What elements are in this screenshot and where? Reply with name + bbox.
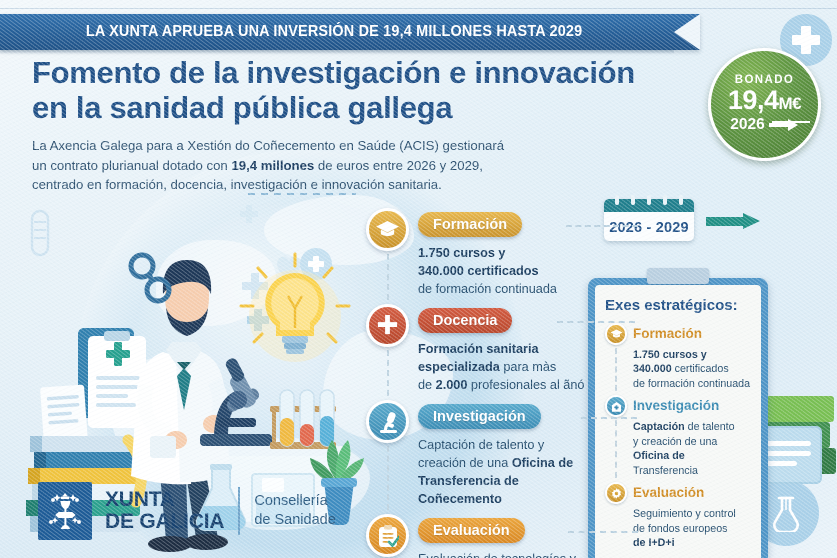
axis-label-formacion: Formación [418,212,522,237]
clip-connector [615,348,617,391]
subtitle-line1: La Axencia Galega para a Xestión do Coñe… [32,138,504,153]
axis-label-investigacion: Investigación [418,404,541,429]
clip-label-evaluacion: Evaluación [633,482,751,504]
clipboard-sheet: Exes estratégicos: Formación 1.750 curso… [595,285,761,558]
clip-item-evaluacion[interactable]: Evaluación Seguimiento y control de fond… [605,482,751,550]
axis-dash-tail [557,321,635,323]
department-line1: Consellería [254,493,327,509]
page-title-line2: en la sanidad pública gallega [32,90,452,125]
axis-item-investigacion[interactable]: Investigación Captación de talento y cre… [366,398,606,508]
axis-dash-tail [568,531,638,533]
evaluacion-l1: Evaluación de tecnologías y [418,552,576,558]
clip-desc-investigacion: Captación de talento y creación de una O… [633,420,751,478]
subtitle-line2-post: de euros entre 2026 y 2029, [314,158,483,173]
docencia-l2b: para màs [500,360,556,374]
docencia-l1: Formación sanitaria [418,342,539,356]
docencia-count: 2.000 [436,378,468,392]
department-line2: de Sanidade [254,512,335,528]
axis-dash-tail [566,225,638,227]
headline-banner: LA XUNTA APRUEBA UNA INVERSIÓN DE 19,4 M… [0,14,700,50]
docencia-l2: especializada [418,360,500,374]
graduation-cap-icon [366,208,409,251]
clip-eval-l2: de fondos europeos [633,523,727,535]
clip-formacion-l2b: certificados [672,363,729,375]
formacion-note: de formación continuada [418,282,557,296]
investigacion-l1: Captación de talento y [418,438,544,452]
strategic-axis-list: Formación 1.750 cursos y 340.000 certifi… [366,206,606,558]
clip-label-investigacion: Investigación [633,395,751,417]
investigacion-l3: Transferencia de Coñecemento [418,474,519,506]
badge-year-row: 2026 [730,116,798,134]
axis-desc-docencia: Formación sanitaria especializada para m… [418,340,606,394]
axis-connector [387,254,389,300]
top-rule [0,8,837,9]
medical-cross-icon [366,304,409,347]
department-name: Consellería de Sanidade [254,492,335,529]
formacion-courses: 1.750 cursos y [418,246,505,260]
banner-text: LA XUNTA APRUEBA UNA INVERSIÓN DE 19,4 M… [86,23,614,41]
clip-formacion-l1: 1.750 cursos y [633,349,707,361]
galicia-chalice-emblem-icon [38,482,92,540]
page-subtitle: La Axencia Galega para a Xestión do Coñe… [32,136,652,193]
axis-label-docencia: Docencia [418,308,512,333]
period-chip: 2026 - 2029 [604,199,694,241]
investment-badge: BONADO 19,4M€ 2026 [708,48,821,161]
microscope-icon [366,400,409,443]
clip-inv-l3: Oficina de [633,450,685,462]
logo-divider [238,487,240,535]
clip-inv-l1a: Captación [633,421,685,433]
axis-connector [387,350,389,396]
badge-underline [772,121,810,123]
docencia-l3a: de [418,378,436,392]
clip-eval-l1: Seguimiento y control [633,508,736,520]
subtitle-amount: 19,4 millones [231,158,314,173]
clip-label-formacion: Formación [633,323,751,345]
clip-inv-l4: Transferencia [633,465,698,477]
docencia-l3b: profesionales al ãnó [467,378,584,392]
banner-shadow [0,50,674,54]
clip-item-formacion[interactable]: Formación 1.750 cursos y 340.000 certifi… [605,323,751,391]
axis-item-docencia[interactable]: Docencia Formación sanitaria especializa… [366,302,606,394]
investigacion-l2: creación de una [418,456,512,470]
badge-amount: 19,4M€ [728,87,801,114]
badge-amount-value: 19,4 [728,85,779,115]
clip-desc-evaluacion: Seguimiento y control de fondos europeos… [633,507,751,550]
badge-amount-unit: M€ [778,94,801,113]
subtitle-line3: centrado en formación, docencia, investi… [32,177,442,192]
axis-label-evaluacion: Evaluación [418,518,525,543]
clip-item-investigacion[interactable]: Investigación Captación de talento y cre… [605,395,751,478]
clip-inv-l2: y creación de una [633,436,717,448]
formacion-certificates: 340.000 certificados [418,264,539,278]
axis-desc-formacion: 1.750 cursos y 340.000 certificados de f… [418,244,606,298]
axis-item-evaluacion[interactable]: Evaluación Evaluación de tecnologías y n… [366,512,606,558]
investigacion-office: Oficina de [512,456,573,470]
banner-notch [674,14,700,50]
xunta-line2: DE GALICIA [105,510,224,533]
clip-formacion-l2a: 340.000 [633,363,672,375]
axis-dash-tail [581,417,637,419]
infographic-canvas: LA XUNTA APRUEBA UNA INVERSIÓN DE 19,4 M… [0,0,837,558]
axis-desc-evaluacion: Evaluación de tecnologías y nuevas pract… [418,550,606,558]
axis-desc-investigacion: Captación de talento y creación de una O… [418,436,606,508]
clipboard-title: Exes estratégicos: [605,297,751,314]
hospital-icon [605,395,627,417]
clip-connector [615,420,617,478]
headline-block: Fomento de la investigación e innovación… [32,56,652,194]
axis-connector [387,446,389,510]
timeline-arrow-icon [706,213,762,229]
subtitle-line2-pre: un contrato plurianual dotado con [32,158,231,173]
gear-icon [605,482,627,504]
graduation-cap-icon [605,323,627,345]
clipboard-clip-icon [647,268,709,284]
page-title: Fomento de la investigación e innovación… [32,56,652,125]
xunta-wordmark: XUNTA DE GALICIA [105,489,224,533]
clip-inv-l1b: de talento [685,421,735,433]
page-title-line1: Fomento de la investigación e innovación [32,55,635,90]
badge-year: 2026 [730,116,764,134]
axis-item-formacion[interactable]: Formación 1.750 cursos y 340.000 certifi… [366,206,606,298]
clip-formacion-l3: de formación continuada [633,378,750,390]
clip-eval-l3: de I+D+i [633,537,675,549]
xunta-line1: XUNTA [105,488,175,511]
period-chip-text: 2026 - 2029 [609,220,689,236]
clip-desc-formacion: 1.750 cursos y 340.000 certificados de f… [633,348,751,391]
clipboard-check-icon [366,514,409,557]
xunta-logo: XUNTA DE GALICIA Consellería de Sanidade [38,482,336,540]
